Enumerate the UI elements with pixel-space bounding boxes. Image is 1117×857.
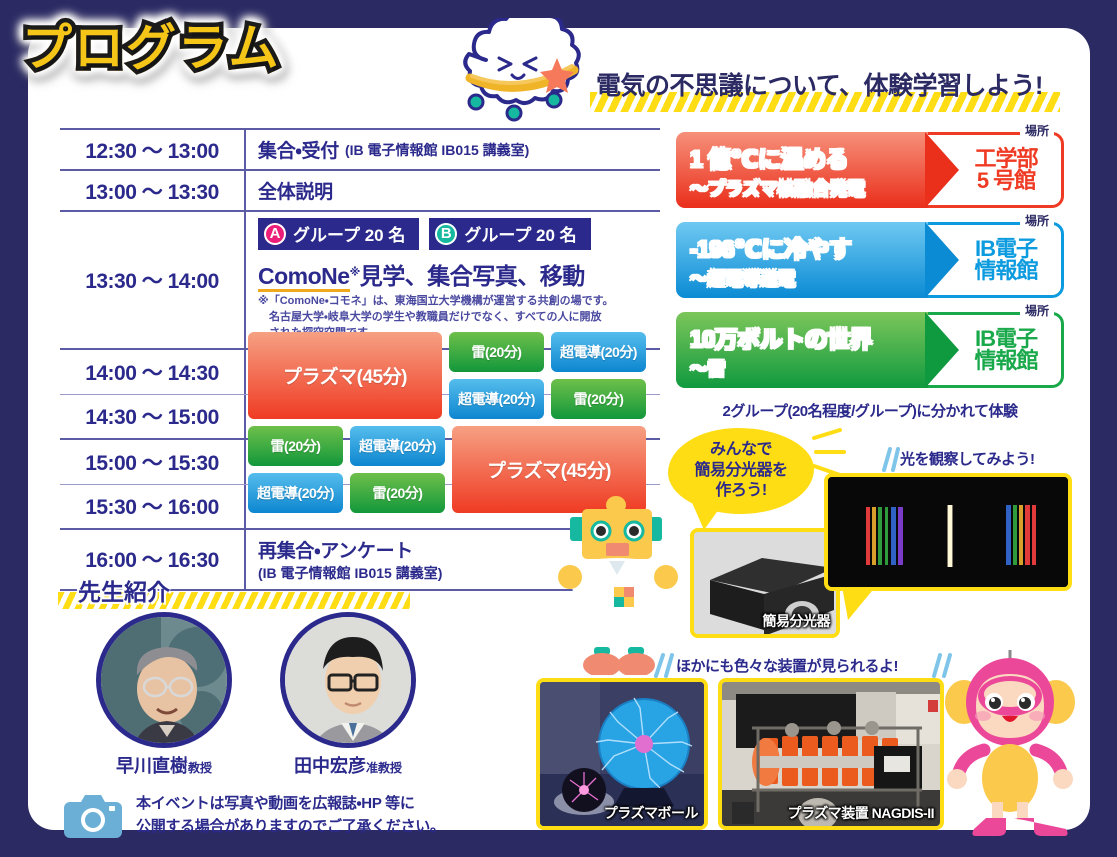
topic-card-superconductor: -196℃に冷やす ～超電導送電 場所 IB電子 情報館 xyxy=(676,222,1064,298)
teacher-name-text: 田中宏彦 xyxy=(294,756,366,776)
schedule-main-text: 再集合・アンケート xyxy=(258,536,413,563)
teachers-heading: 先生紹介 xyxy=(78,573,170,607)
activity-row-1: プラズマ(45分) 雷(20分) 超電導(20分) 超電導(20分) 雷(20分… xyxy=(248,332,652,419)
avatar xyxy=(96,612,232,748)
schedule-sub-text: (IB 電子情報館 IB015 講義室) xyxy=(258,563,442,583)
group-letter-a: A xyxy=(264,223,286,245)
activity-stack-left-2: 雷(20分) 超電導(20分) 超電導(20分) 雷(20分) xyxy=(248,426,445,513)
sparkle-lines-icon xyxy=(878,446,900,472)
label-other-devices: ほかにも色々な装置が見られるよ! xyxy=(676,655,898,676)
topic-card-subtitle: ～プラズマ核融合発電 xyxy=(690,175,928,201)
page-title-text: プログラム xyxy=(22,22,281,75)
topic-cards-note: 2グループ(20名程度/グループ)に分かれて体験 xyxy=(676,400,1064,421)
topic-card-venue: IB電子 情報館 xyxy=(954,312,1058,388)
topic-card-headline: 1 億℃に温める ～プラズマ核融合発電 xyxy=(676,132,928,208)
teacher-list: 早川直樹教授 田中宏彦准教授 xyxy=(96,612,416,778)
comone-marker: ※ xyxy=(350,266,360,278)
table-row: 12:30 ～ 13:00 集合・受付 (IB 電子情報館 IB015 講義室) xyxy=(60,128,660,171)
venue-label: 場所 xyxy=(1020,212,1054,229)
group-label-a: グループ 20 名 xyxy=(293,221,405,246)
photo-nagdis: プラズマ装置 NAGDIS-II xyxy=(718,678,944,830)
teacher-rank: 教授 xyxy=(188,761,212,775)
group-badge-list: A グループ 20 名 B グループ 20 名 xyxy=(258,218,591,250)
schedule-time: 13:00 ～ 13:30 xyxy=(60,171,246,210)
sparkle-lines-icon xyxy=(810,428,850,480)
speech-bubble-tail xyxy=(840,586,880,620)
activity-block-raiden: 雷(20分) xyxy=(449,332,544,372)
topic-card-title: -196℃に冷やす xyxy=(690,230,928,264)
teacher-card: 早川直樹教授 xyxy=(96,612,232,778)
activity-block-plasma: プラズマ(45分) xyxy=(248,332,442,419)
activity-block-raiden: 雷(20分) xyxy=(551,379,646,419)
comone-activity: 見学、集合写真、移動 xyxy=(360,263,585,289)
camera-notice-line2: 公開する場合がありますのでご了承ください。 xyxy=(136,816,445,839)
venue-line-1: IB電子 xyxy=(975,328,1037,350)
bubble-line-1: みんなで xyxy=(694,440,787,461)
group-label-b: グループ 20 名 xyxy=(464,221,576,246)
venue-label: 場所 xyxy=(1020,122,1054,139)
activity-block-grid: プラズマ(45分) 雷(20分) 超電導(20分) 超電導(20分) 雷(20分… xyxy=(248,332,652,520)
schedule-body: 全体説明 xyxy=(246,171,660,210)
topic-card-subtitle: ～雷 xyxy=(690,355,928,381)
schedule-time: 15:30 ～ 16:00 xyxy=(60,485,246,528)
camera-notice: 本イベントは写真や動画を広報誌・HP 等に 公開する場合がありますのでご了承くだ… xyxy=(64,793,445,838)
photo-caption: 簡易分光器 xyxy=(763,611,831,631)
topic-card-subtitle: ～超電導送電 xyxy=(690,265,928,291)
header-tagline: 電気の不思議について、体験学習しよう! xyxy=(596,66,1043,102)
venue-line-2: 5 号館 xyxy=(977,170,1035,192)
poster-root: プログラム 電気の不思議について、体験学習しよう! 12:30 ～ 13:00 xyxy=(0,0,1117,857)
label-observe-light: 光を観察してみよう! xyxy=(900,448,1035,469)
schedule-body: A グループ 20 名 B グループ 20 名 ComoNe※見学、集合写真、移… xyxy=(246,212,660,348)
topic-card-venue: IB電子 情報館 xyxy=(954,222,1058,298)
sparkle-lines-icon xyxy=(650,652,676,678)
venue-line-1: 工学部 xyxy=(974,148,1037,170)
avatar xyxy=(280,612,416,748)
bubble-line-3: 作ろう! xyxy=(694,481,787,502)
group-letter-b: B xyxy=(435,223,457,245)
camera-notice-text: 本イベントは写真や動画を広報誌・HP 等に 公開する場合がありますのでご了承くだ… xyxy=(136,793,445,838)
group-badge-b: B グループ 20 名 xyxy=(429,218,590,250)
schedule-main-text: 集合・受付 xyxy=(258,136,339,163)
venue-line-2: 情報館 xyxy=(974,350,1037,372)
topic-card-venue: 工学部 5 号館 xyxy=(954,132,1058,208)
topic-card-headline: 10万ボルトの世界 ～雷 xyxy=(676,312,928,388)
activity-block-superconductor: 超電導(20分) xyxy=(248,473,343,513)
schedule-time: 12:30 ～ 13:00 xyxy=(60,130,246,169)
venue-label: 場所 xyxy=(1020,302,1054,319)
photo-spectrum xyxy=(824,473,1072,591)
teacher-name-text: 早川直樹 xyxy=(116,756,188,776)
activity-block-superconductor: 超電導(20分) xyxy=(350,426,445,466)
comone-title: ComoNe※見学、集合写真、移動 xyxy=(258,257,585,291)
photo-caption: プラズマ装置 NAGDIS-II xyxy=(788,803,935,823)
teacher-name: 田中宏彦准教授 xyxy=(280,752,416,778)
teacher-rank: 准教授 xyxy=(366,761,402,775)
activity-block-raiden: 雷(20分) xyxy=(248,426,343,466)
schedule-sub-text: (IB 電子情報館 IB015 講義室) xyxy=(345,140,529,160)
photo-caption: プラズマボール xyxy=(604,803,698,823)
page-title: プログラム xyxy=(22,22,281,75)
camera-notice-line1: 本イベントは写真や動画を広報誌・HP 等に xyxy=(136,793,445,816)
activity-stack-right-1: 雷(20分) 超電導(20分) 超電導(20分) 雷(20分) xyxy=(449,332,646,419)
table-row: 13:00 ～ 13:30 全体説明 xyxy=(60,171,660,212)
table-row: 13:30 ～ 14:00 A グループ 20 名 B グループ 20 名 Co… xyxy=(60,212,660,350)
comone-name: ComoNe xyxy=(258,263,350,292)
activity-block-superconductor: 超電導(20分) xyxy=(551,332,646,372)
cloud-mascot-icon xyxy=(446,18,596,130)
speech-bubble-make-spectrometer: みんなで 簡易分光器を 作ろう! xyxy=(668,428,814,514)
venue-line-2: 情報館 xyxy=(974,260,1037,282)
topic-card-list: 1 億℃に温める ～プラズマ核融合発電 場所 工学部 5 号館 -196℃に冷や… xyxy=(676,132,1064,421)
schedule-time: 15:00 ～ 15:30 xyxy=(60,440,246,484)
schedule-time: 13:30 ～ 14:00 xyxy=(60,212,246,348)
comone-note-line1: ※「ComoNe・コモネ」は、東海国立大学機構が運営する共創の場です。 xyxy=(258,295,614,307)
group-badge-a: A グループ 20 名 xyxy=(258,218,419,250)
comone-note-line2: 名古屋大学・岐阜大学の学生や教職員だけでなく、すべての人に開放 xyxy=(258,310,614,326)
bubble-line-2: 簡易分光器を xyxy=(694,461,787,482)
topic-card-headline: -196℃に冷やす ～超電導送電 xyxy=(676,222,928,298)
topic-card-plasma: 1 億℃に温める ～プラズマ核融合発電 場所 工学部 5 号館 xyxy=(676,132,1064,208)
topic-card-title: 10万ボルトの世界 xyxy=(690,320,928,354)
schedule-time: 14:30 ～ 15:00 xyxy=(60,395,246,438)
venue-line-1: IB電子 xyxy=(975,238,1037,260)
schedule-main-text: 全体説明 xyxy=(258,177,333,204)
robot-scientist-mascot-icon xyxy=(554,495,684,675)
monkey-mascot-icon xyxy=(940,650,1080,840)
photo-plasma-ball: プラズマボール xyxy=(536,678,708,830)
photo-simple-spectrometer: 簡易分光器 xyxy=(690,528,840,638)
activity-block-raiden: 雷(20分) xyxy=(350,473,445,513)
topic-card-title: 1 億℃に温める xyxy=(690,140,928,174)
camera-icon xyxy=(64,794,122,838)
teacher-card: 田中宏彦准教授 xyxy=(280,612,416,778)
schedule-body: 集合・受付 (IB 電子情報館 IB015 講義室) xyxy=(246,130,660,169)
teacher-name: 早川直樹教授 xyxy=(96,752,232,778)
schedule-time: 14:00 ～ 14:30 xyxy=(60,350,246,394)
activity-block-superconductor: 超電導(20分) xyxy=(449,379,544,419)
topic-card-lightning: 10万ボルトの世界 ～雷 場所 IB電子 情報館 xyxy=(676,312,1064,388)
